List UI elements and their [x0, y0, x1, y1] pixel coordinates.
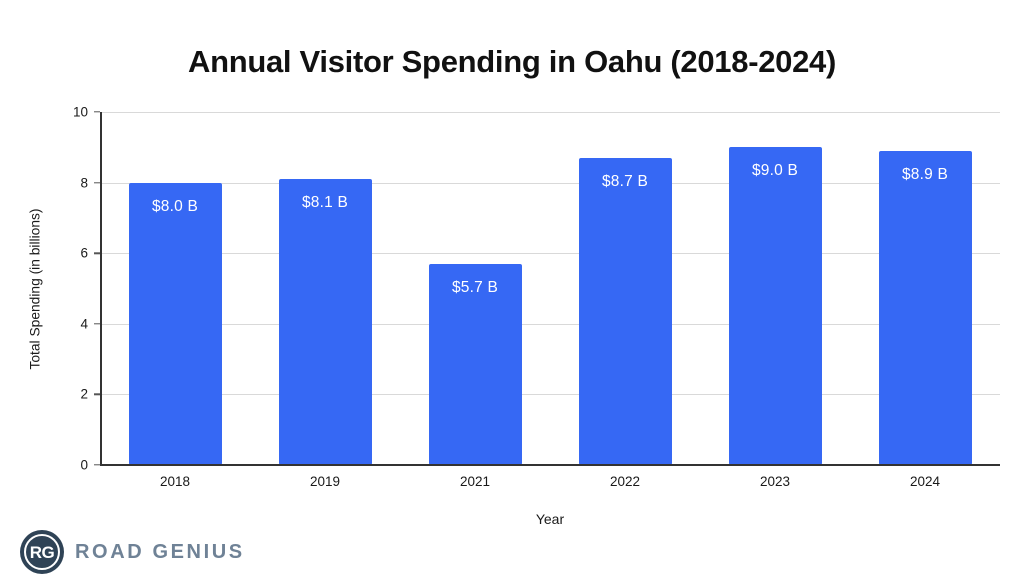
y-tick-label: 8: [42, 175, 88, 190]
gridline: [100, 253, 1000, 254]
bar-value-label: $8.9 B: [879, 166, 972, 184]
gridline: [100, 112, 1000, 113]
x-tick-label: 2022: [575, 474, 675, 489]
x-tick-label: 2024: [875, 474, 975, 489]
bar: $8.9 B: [879, 151, 972, 465]
y-tick-label: 2: [42, 387, 88, 402]
x-tick-label: 2023: [725, 474, 825, 489]
logo-monogram: RG: [30, 544, 55, 561]
bar: $9.0 B: [729, 147, 822, 465]
bar-value-label: $8.1 B: [279, 194, 372, 212]
road-genius-logo: RG ROAD GENIUS: [20, 530, 245, 574]
bar-value-label: $8.7 B: [579, 173, 672, 191]
y-tick-label: 0: [42, 458, 88, 473]
x-tick-label: 2021: [425, 474, 525, 489]
x-tick-label: 2019: [275, 474, 375, 489]
bar: $8.1 B: [279, 179, 372, 465]
bar-value-label: $8.0 B: [129, 198, 222, 216]
x-tick-label: 2018: [125, 474, 225, 489]
y-tick-label: 4: [42, 316, 88, 331]
x-axis-title: Year: [100, 511, 1000, 527]
gridline: [100, 324, 1000, 325]
logo-circle-icon: RG: [20, 530, 64, 574]
bar: $8.0 B: [129, 183, 222, 465]
bar: $5.7 B: [429, 264, 522, 465]
y-tick-label: 6: [42, 246, 88, 261]
x-axis-line: [100, 464, 1000, 466]
y-axis-title-label: Total Spending (in billions): [28, 208, 43, 369]
y-axis-line: [100, 112, 102, 465]
bar: $8.7 B: [579, 158, 672, 465]
y-tick-label: 10: [42, 105, 88, 120]
gridline: [100, 394, 1000, 395]
chart-title: Annual Visitor Spending in Oahu (2018-20…: [0, 44, 1024, 80]
plot-background: [100, 112, 1000, 465]
bar-value-label: $5.7 B: [429, 279, 522, 297]
plot-area: $8.0 B$8.1 B$5.7 B$8.7 B$9.0 B$8.9 B: [100, 112, 1000, 465]
chart-canvas: Annual Visitor Spending in Oahu (2018-20…: [0, 0, 1024, 582]
bar-value-label: $9.0 B: [729, 162, 822, 180]
gridline: [100, 183, 1000, 184]
y-axis-title: Total Spending (in billions): [24, 112, 46, 465]
logo-wordmark: ROAD GENIUS: [75, 541, 245, 564]
